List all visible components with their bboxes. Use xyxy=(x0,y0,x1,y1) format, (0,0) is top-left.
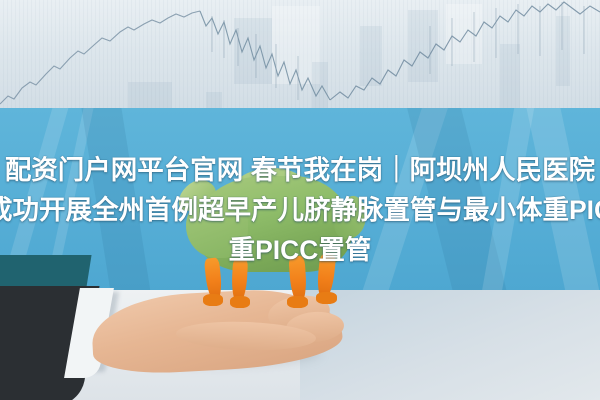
headline-line-2: 成功开展全州首例超早产儿脐静脉置管与最小体重PICC xyxy=(0,190,600,230)
bull-hoof-b xyxy=(230,296,250,308)
news-thumbnail-image: 配资门户网平台官网 春节我在岗｜阿坝州人民医院 成功开展全州首例超早产儿脐静脉置… xyxy=(0,0,600,400)
bull-hoof-d xyxy=(316,292,337,304)
bull-hoof-a xyxy=(203,294,223,306)
headline-overlay: 配资门户网平台官网 春节我在岗｜阿坝州人民医院 成功开展全州首例超早产儿脐静脉置… xyxy=(0,150,600,270)
desk-surface-right xyxy=(300,290,600,400)
headline-line-3: 重PICC置管 xyxy=(0,230,600,270)
stock-chart-panel xyxy=(0,0,600,112)
stock-chart-lines xyxy=(0,0,600,112)
headline-line-1: 配资门户网平台官网 春节我在岗｜阿坝州人民医院 xyxy=(0,150,600,190)
bull-hoof-c xyxy=(287,296,308,308)
